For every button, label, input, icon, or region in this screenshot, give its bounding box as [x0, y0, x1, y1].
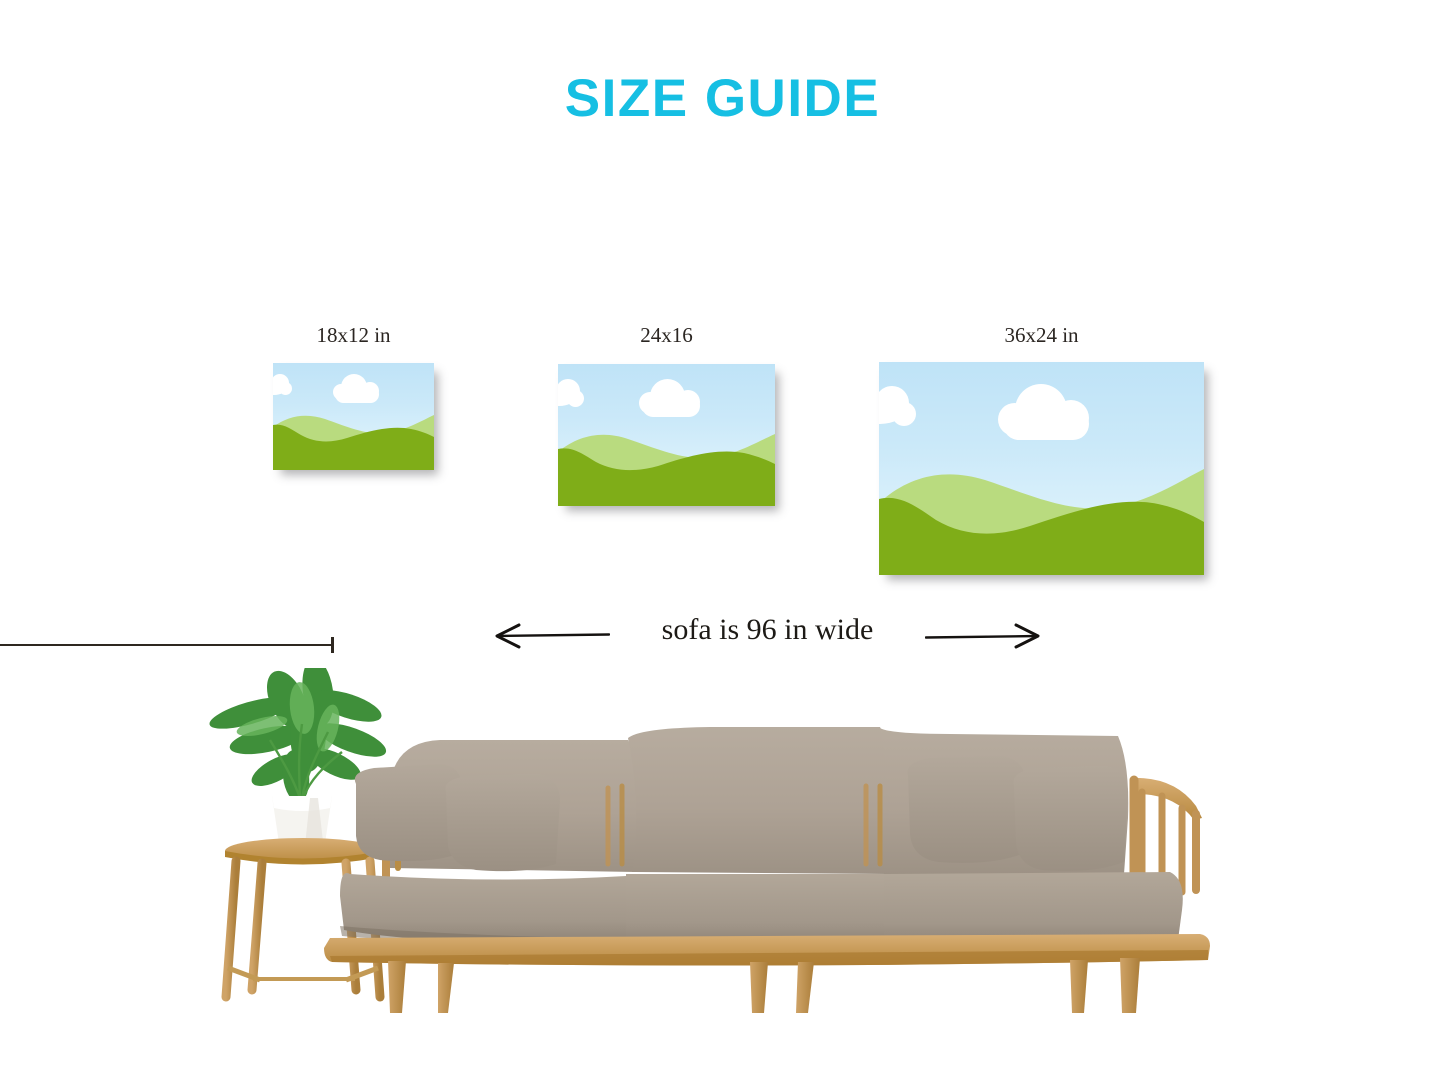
artwork-36x24	[879, 362, 1204, 575]
artwork-hills	[879, 362, 1204, 575]
artwork-hills	[558, 364, 775, 506]
sofa-width-annotation: sofa is 96 in wide	[495, 612, 1040, 660]
artwork-18x12	[273, 363, 434, 470]
measurement-bar	[0, 644, 334, 646]
sofa-legs	[388, 958, 1140, 1013]
size-label-36x24: 36x24 in	[879, 323, 1204, 348]
sofa	[324, 727, 1210, 1013]
size-label-18x12: 18x12 in	[273, 323, 434, 348]
throw-pillow	[355, 764, 462, 861]
size-guide-page: SIZE GUIDE 18x12 in 24x16	[0, 0, 1445, 1084]
size-label-24x16: 24x16	[558, 323, 775, 348]
canvas-preview-36x24	[879, 362, 1204, 575]
throw-pillow	[445, 774, 560, 871]
canvas-preview-18x12	[273, 363, 434, 470]
measurement-line-left	[0, 637, 334, 653]
canvas-preview-24x16	[558, 364, 775, 506]
room-scene	[190, 668, 1220, 1013]
page-title: SIZE GUIDE	[0, 72, 1445, 125]
sofa-back-cushion	[628, 727, 892, 874]
measurement-tick	[331, 637, 334, 653]
arrow-right-icon	[925, 622, 1040, 650]
seat-cushion	[626, 874, 884, 944]
throw-pillow	[907, 756, 1026, 863]
artwork-24x16	[558, 364, 775, 506]
throw-pillow	[1013, 766, 1128, 871]
artwork-hills	[273, 363, 434, 470]
